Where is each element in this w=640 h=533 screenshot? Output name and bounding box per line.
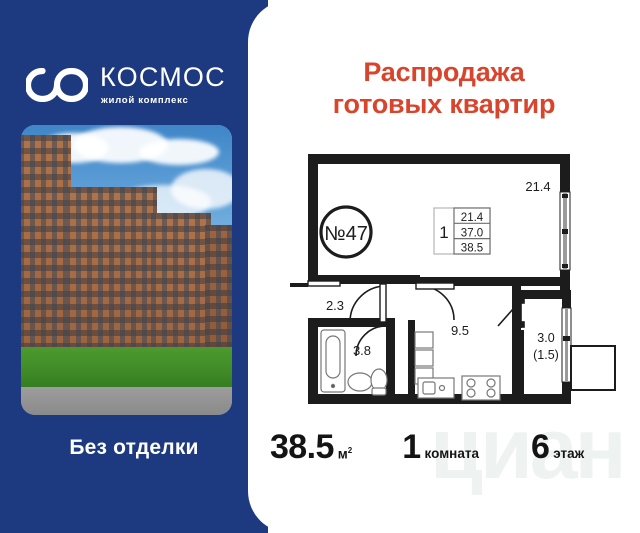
floor-plan: №47 1 21.4 37.0 38.5 21.4 2.3 3.8 9.5 3.… — [290, 150, 636, 410]
stove-icon — [462, 376, 500, 400]
info-total-area: 38.5 — [461, 243, 483, 255]
brand-logo: КОСМОС жилой комплекс — [26, 57, 242, 113]
apartment-number: №47 — [324, 223, 368, 245]
room-area-balcony-coefficient: (1.5) — [533, 348, 559, 362]
stat-floor-value: 6 — [531, 428, 549, 467]
listing-stats: 38.5 м2 1 комната 6 этаж — [256, 428, 640, 484]
room-area-balcony: 3.0 — [537, 331, 554, 345]
kitchen-fixtures — [415, 332, 500, 400]
room-area-bathroom: 3.8 — [353, 343, 371, 358]
plan-info-box: 1 21.4 37.0 38.5 — [434, 208, 490, 255]
listing-card: КОСМОС жилой комплекс — [0, 0, 640, 533]
info-area-no-balcony: 37.0 — [461, 227, 483, 239]
stat-area: 38.5 м2 — [270, 428, 352, 467]
stat-area-value: 38.5 — [270, 428, 334, 467]
bathroom-fixtures — [321, 330, 387, 395]
lawn — [21, 347, 232, 389]
building-photo — [21, 125, 232, 415]
room-area-hallway: 2.3 — [326, 298, 344, 313]
brand-panel: КОСМОС жилой комплекс — [0, 0, 268, 533]
infinity-loops-icon — [26, 68, 88, 102]
finish-label: Без отделки — [0, 436, 268, 460]
room-area-living: 21.4 — [525, 179, 550, 194]
road — [21, 387, 232, 415]
brand-tagline: жилой комплекс — [101, 95, 226, 106]
info-living-area: 21.4 — [461, 212, 484, 224]
stat-rooms-unit: комната — [425, 446, 479, 461]
stat-floor: 6 этаж — [531, 428, 584, 467]
shelf — [415, 350, 433, 366]
stat-area-unit: м2 — [338, 446, 352, 462]
stat-rooms: 1 комната — [402, 428, 479, 467]
room-area-kitchen: 9.5 — [451, 323, 469, 338]
sink-icon — [348, 373, 372, 391]
headline-line-1: Распродажа — [248, 57, 640, 89]
stat-floor-unit: этаж — [553, 446, 584, 461]
cloud — [139, 139, 219, 165]
brand-name: КОСМОС — [100, 64, 226, 91]
shelf — [415, 332, 433, 348]
page-title: Распродажа готовых квартир — [248, 57, 640, 120]
apartment-number-badge: №47 — [321, 207, 371, 257]
bathtub-icon — [321, 330, 345, 392]
stat-rooms-value: 1 — [402, 428, 420, 467]
headline-line-2: готовых квартир — [248, 89, 640, 121]
info-rooms: 1 — [439, 223, 448, 242]
